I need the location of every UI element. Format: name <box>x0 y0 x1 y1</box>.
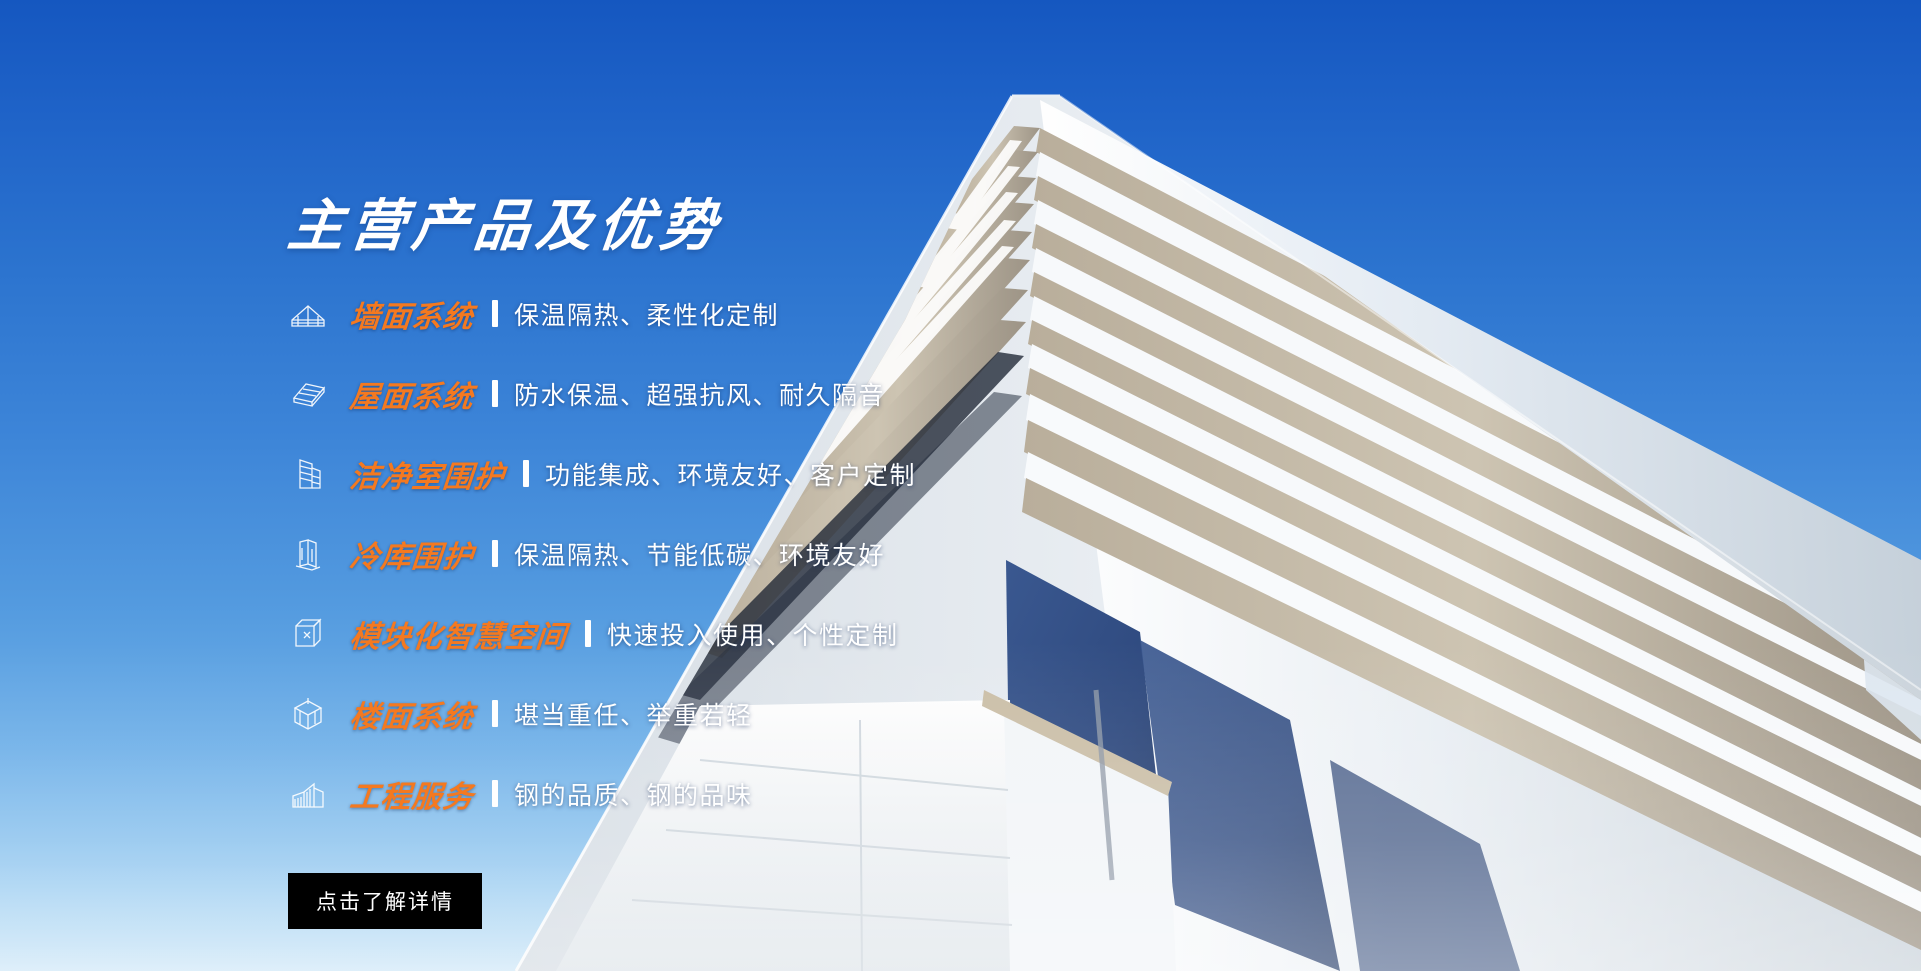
feature-separator <box>585 620 591 647</box>
hero-content-panel: 主营产品及优势 墙面系统 保温隔热、柔性化定制 <box>288 195 1188 929</box>
feature-separator <box>492 300 498 327</box>
feature-name: 楼面系统 <box>348 692 476 736</box>
hero-banner: 主营产品及优势 墙面系统 保温隔热、柔性化定制 <box>0 0 1921 971</box>
feature-name: 屋面系统 <box>348 372 476 416</box>
feature-name: 工程服务 <box>348 772 476 816</box>
feature-separator <box>523 460 529 487</box>
feature-name: 模块化智慧空间 <box>348 612 569 656</box>
feature-desc: 防水保温、超强抗风、耐久隔音 <box>514 376 885 412</box>
roof-panel-icon <box>288 374 328 414</box>
feature-name: 墙面系统 <box>348 292 476 336</box>
modular-cube-icon <box>288 614 328 654</box>
floor-deck-icon <box>288 694 328 734</box>
feature-separator <box>492 780 498 807</box>
feature-desc: 堪当重任、举重若轻 <box>514 696 753 732</box>
feature-name: 冷库围护 <box>348 532 476 576</box>
feature-separator <box>492 380 498 407</box>
feature-desc: 功能集成、环境友好、客户定制 <box>545 456 916 492</box>
feature-row[interactable]: 墙面系统 保温隔热、柔性化定制 <box>288 291 1188 337</box>
feature-row[interactable]: 模块化智慧空间 快速投入使用、个性定制 <box>288 611 1188 657</box>
feature-separator <box>492 700 498 727</box>
cold-storage-icon <box>288 534 328 574</box>
feature-name: 洁净室围护 <box>348 452 507 496</box>
cleanroom-tower-icon <box>288 454 328 494</box>
feature-desc: 保温隔热、柔性化定制 <box>514 296 779 332</box>
engineering-buildings-icon <box>288 774 328 814</box>
feature-desc: 快速投入使用、个性定制 <box>607 616 899 652</box>
feature-row[interactable]: 工程服务 钢的品质、钢的品味 <box>288 771 1188 817</box>
feature-row[interactable]: 楼面系统 堪当重任、举重若轻 <box>288 691 1188 737</box>
page-title: 主营产品及优势 <box>285 195 1191 257</box>
feature-row[interactable]: 冷库围护 保温隔热、节能低碳、环境友好 <box>288 531 1188 577</box>
wall-frame-icon <box>288 294 328 334</box>
learn-more-button[interactable]: 点击了解详情 <box>288 873 482 929</box>
feature-row[interactable]: 洁净室围护 功能集成、环境友好、客户定制 <box>288 451 1188 497</box>
feature-separator <box>492 540 498 567</box>
feature-desc: 钢的品质、钢的品味 <box>514 776 753 812</box>
feature-desc: 保温隔热、节能低碳、环境友好 <box>514 536 885 572</box>
feature-row[interactable]: 屋面系统 防水保温、超强抗风、耐久隔音 <box>288 371 1188 417</box>
